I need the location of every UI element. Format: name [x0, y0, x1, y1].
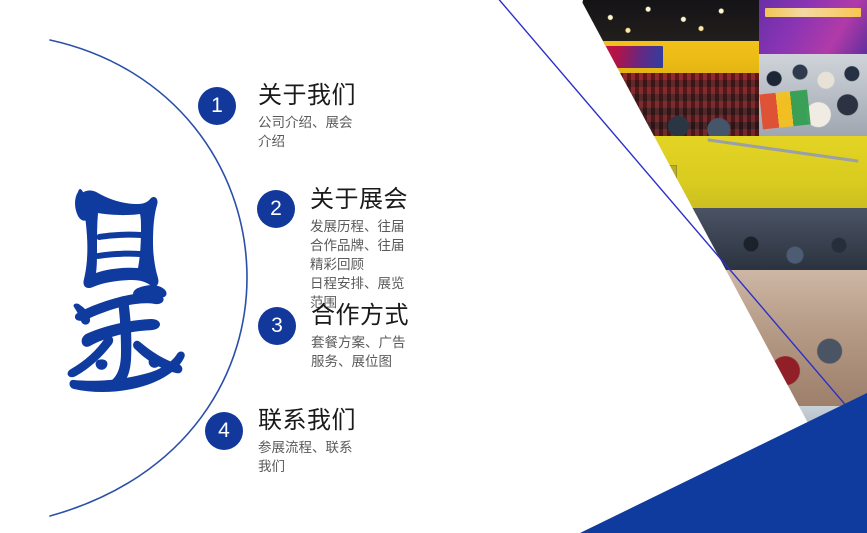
toc-item-2-subtitle: 发展历程、往届合作品牌、往届精彩回顾 日程安排、展览范围 — [310, 217, 408, 312]
toc-item-4-title: 联系我们 — [258, 407, 356, 435]
calligraphy-mulu-heading — [52, 168, 202, 400]
toc-item-3-subline-1: 套餐方案、广告服务、展位图 — [311, 333, 409, 371]
toc-item-2-subline-1: 发展历程、往届合作品牌、往届精彩回顾 — [310, 217, 408, 274]
photo-seated-audience-aisle — [527, 270, 867, 406]
toc-item-3-number: 3 — [258, 307, 296, 345]
toc-item-4-number: 4 — [205, 412, 243, 450]
toc-item-2-number: 2 — [257, 190, 295, 228]
toc-item-2-title: 关于展会 — [310, 186, 408, 214]
toc-item-4-subline-1: 参展流程、联系我们 — [258, 438, 356, 476]
photo-auditorium-stage-audience — [507, 0, 759, 136]
toc-item-1-number: 1 — [198, 87, 236, 125]
photo-purple-banner-registration-desks — [759, 0, 867, 136]
photo-collage — [467, 0, 867, 533]
photo-yellow-hall-wide-crowd — [467, 136, 867, 270]
toc-item-3-subtitle: 套餐方案、广告服务、展位图 — [311, 333, 409, 371]
toc-item-1-subtitle: 公司介绍、展会介绍 — [258, 113, 356, 151]
toc-item-1-title: 关于我们 — [258, 82, 356, 110]
toc-item-3-title: 合作方式 — [311, 302, 409, 330]
slide-root: 1 关于我们 公司介绍、展会介绍 2 关于展会 发展历程、往届合作品牌、往届精彩… — [0, 0, 867, 533]
toc-item-4-subtitle: 参展流程、联系我们 — [258, 438, 356, 476]
toc-item-1-subline-1: 公司介绍、展会介绍 — [258, 113, 356, 151]
photo-yellow-exhibition-booth-visitors — [602, 406, 867, 533]
